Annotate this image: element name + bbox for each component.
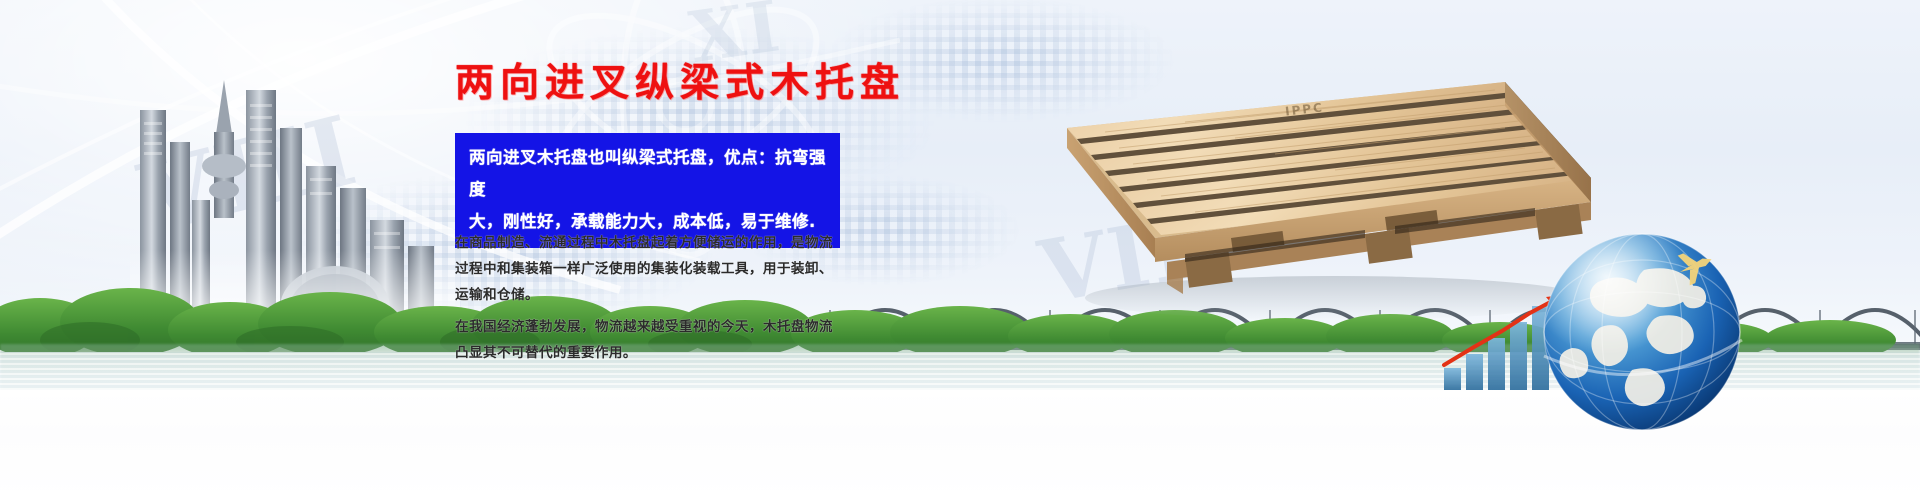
product-banner: VIII VII XI	[0, 0, 1920, 500]
description-paragraph-2: 在我国经济蓬勃发展，物流越来越受重视的今天，木托盘物流凸显其不可替代的重要作用。	[455, 314, 845, 366]
description-block: 在商品制造、流通过程中木托盘起着方便储运的作用，是物流过程中和集装箱一样广泛使用…	[455, 230, 845, 372]
highlight-line-1: 两向进叉木托盘也叫纵梁式托盘，优点：抗弯强度	[469, 142, 828, 206]
page-title: 两向进叉纵梁式木托盘	[455, 52, 905, 108]
description-paragraph-1: 在商品制造、流通过程中木托盘起着方便储运的作用，是物流过程中和集装箱一样广泛使用…	[455, 230, 845, 308]
wooden-pallet-photo: IPPC	[1035, 62, 1605, 322]
globe-illustration	[1540, 230, 1745, 435]
